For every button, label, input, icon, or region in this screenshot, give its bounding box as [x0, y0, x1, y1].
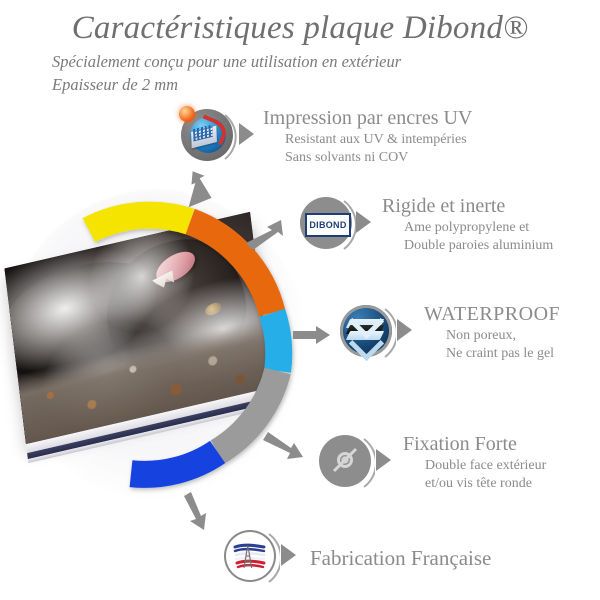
screw-bolt-icon — [319, 435, 375, 491]
waterproof-text-block: WATERPROOF Non poreux, Ne craint pas le … — [424, 304, 560, 362]
uv-icon-halo — [181, 109, 237, 165]
uv-ink-printing-icon — [181, 109, 237, 165]
uv-arrow-marker — [239, 123, 254, 145]
fixing-icon-halo — [319, 435, 375, 491]
blue-segment — [131, 452, 218, 474]
rigid-heading: Rigide et inerte — [382, 196, 553, 217]
fixing-sub-2: et/ou vis tête ronde — [425, 475, 546, 493]
french-flag-eiffel-icon — [224, 530, 280, 586]
dibond-arrow-marker — [356, 211, 371, 233]
yellow-segment — [89, 215, 190, 230]
arrow-to-french-manufacture — [184, 492, 206, 530]
uv-sub-2: Sans solvants ni COV — [285, 149, 472, 167]
waterproof-icon-halo — [340, 305, 396, 361]
french-icon-halo — [224, 530, 280, 586]
color-arc-diagram — [0, 0, 600, 600]
rigid-text-block: Rigide et inerte Ame polypropylene et Do… — [382, 196, 553, 254]
arrow-to-strong-fixing — [263, 432, 303, 459]
rigid-sub-2: Double paroies aluminium — [404, 237, 553, 255]
french-arrow-marker — [281, 544, 296, 566]
waterproof-sub-1: Non poreux, — [446, 327, 560, 345]
arc-segments — [89, 215, 279, 474]
cyan-segment — [272, 313, 279, 371]
infographic-canvas: Caractéristiques plaque Dibond® Spéciale… — [0, 0, 600, 600]
waterproof-arrow-marker — [397, 319, 412, 341]
french-text-block: Fabrication Française — [310, 547, 491, 569]
arrow-to-uv-printing — [184, 169, 213, 207]
fixing-text-block: Fixation Forte Double face extérieur et/… — [403, 434, 546, 492]
feature-waterproof[interactable]: WATERPROOF Non poreux, Ne craint pas le … — [340, 304, 560, 362]
feature-strong-fixing[interactable]: Fixation Forte Double face extérieur et/… — [319, 434, 546, 492]
rigid-sub-1: Ame polypropylene et — [404, 219, 553, 237]
orange-segment — [190, 222, 272, 313]
waterproof-heading: WATERPROOF — [424, 304, 560, 325]
dibond-icon-halo — [300, 197, 356, 253]
waterproof-sub-2: Ne craint pas le gel — [446, 345, 560, 363]
feature-uv-printing[interactable]: Impression par encres UV Resistant aux U… — [181, 108, 472, 166]
feature-rigid-inert[interactable]: DIBOND Rigide et inerte Ame polypropylen… — [300, 196, 553, 254]
french-heading: Fabrication Française — [310, 547, 491, 569]
fixing-arrow-marker — [376, 449, 391, 471]
uv-text-block: Impression par encres UV Resistant aux U… — [263, 108, 472, 166]
waterproof-layers-icon — [340, 305, 396, 361]
arrow-to-waterproof — [293, 326, 330, 344]
uv-sub-1: Resistant aux UV & intempéries — [285, 131, 472, 149]
uv-heading: Impression par encres UV — [263, 108, 472, 129]
arrow-to-rigid-inert — [246, 220, 283, 250]
dibond-logo-icon: DIBOND — [300, 197, 356, 253]
fixing-sub-1: Double face extérieur — [425, 457, 546, 475]
feature-french-manufacture[interactable]: Fabrication Française — [224, 530, 491, 586]
fixing-heading: Fixation Forte — [403, 434, 546, 455]
